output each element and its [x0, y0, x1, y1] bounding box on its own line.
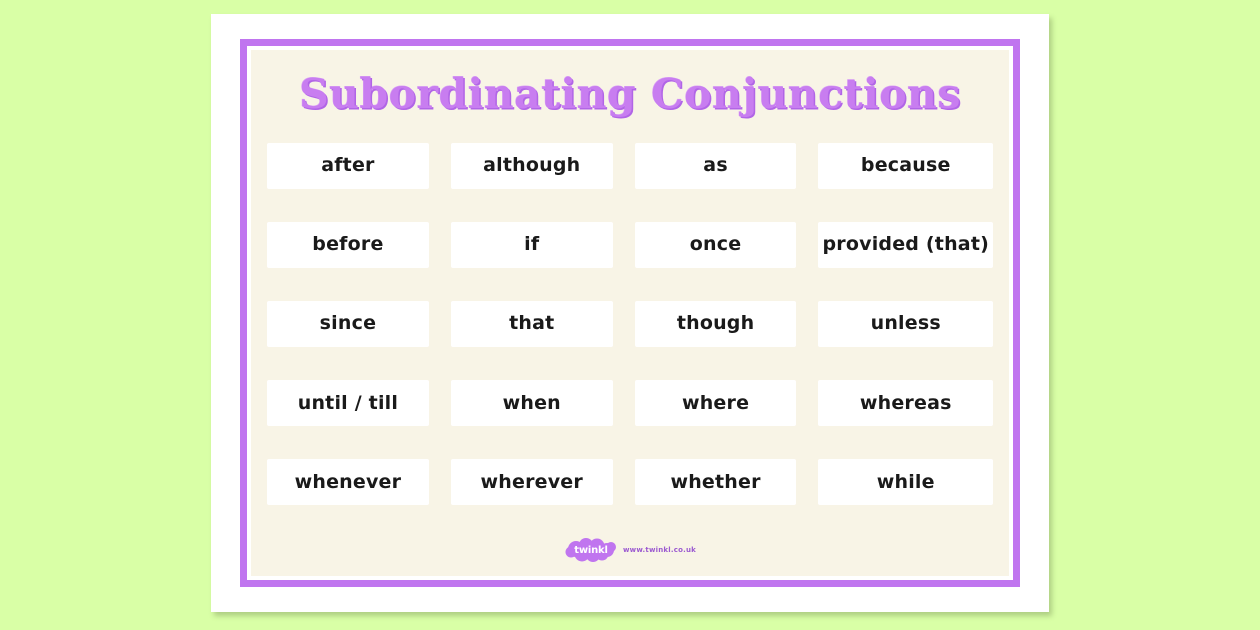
conjunction-card[interactable]: before	[267, 222, 429, 268]
poster-frame-inner: Subordinating Conjunctions afteralthough…	[247, 46, 1013, 580]
twinkl-cloud-icon: twinkl	[564, 538, 618, 562]
conjunction-label: until / till	[298, 394, 398, 413]
conjunction-label: unless	[871, 314, 941, 333]
conjunction-card[interactable]: unless	[818, 301, 993, 347]
conjunction-card[interactable]: whether	[635, 459, 797, 505]
conjunction-card-grid: afteralthoughasbecausebeforeifonceprovid…	[267, 126, 993, 522]
conjunction-card[interactable]: provided (that)	[818, 222, 993, 268]
conjunction-label: since	[320, 314, 377, 333]
conjunction-label: because	[861, 156, 951, 175]
conjunction-label: while	[877, 473, 935, 492]
conjunction-label: as	[703, 156, 728, 175]
conjunction-card[interactable]: since	[267, 301, 429, 347]
conjunction-card[interactable]: whenever	[267, 459, 429, 505]
conjunction-label: wherever	[481, 473, 583, 492]
conjunction-card[interactable]: after	[267, 143, 429, 189]
conjunction-card[interactable]: once	[635, 222, 797, 268]
conjunction-card[interactable]: because	[818, 143, 993, 189]
poster-frame-outer: Subordinating Conjunctions afteralthough…	[240, 39, 1020, 587]
conjunction-card[interactable]: until / till	[267, 380, 429, 426]
conjunction-label: though	[677, 314, 755, 333]
conjunction-label: whereas	[860, 394, 952, 413]
conjunction-card[interactable]: whereas	[818, 380, 993, 426]
conjunction-label: provided (that)	[822, 235, 989, 254]
conjunction-label: that	[509, 314, 554, 333]
page-title: Subordinating Conjunctions	[251, 70, 1009, 118]
conjunction-label: if	[524, 235, 539, 254]
conjunction-card[interactable]: while	[818, 459, 993, 505]
footer-branding: twinkl www.twinkl.co.uk	[251, 538, 1009, 562]
conjunction-label: once	[690, 235, 742, 254]
conjunction-card[interactable]: as	[635, 143, 797, 189]
conjunction-label: when	[503, 394, 561, 413]
conjunction-card[interactable]: where	[635, 380, 797, 426]
conjunction-card[interactable]: wherever	[451, 459, 613, 505]
conjunction-card[interactable]: when	[451, 380, 613, 426]
conjunction-label: whenever	[295, 473, 402, 492]
conjunction-label: before	[312, 235, 383, 254]
poster-sheet: Subordinating Conjunctions afteralthough…	[211, 14, 1049, 612]
conjunction-label: where	[682, 394, 749, 413]
conjunction-card[interactable]: although	[451, 143, 613, 189]
conjunction-label: whether	[670, 473, 760, 492]
conjunction-label: although	[483, 156, 580, 175]
conjunction-card[interactable]: that	[451, 301, 613, 347]
conjunction-card[interactable]: if	[451, 222, 613, 268]
twinkl-url: www.twinkl.co.uk	[623, 546, 696, 554]
twinkl-wordmark: twinkl	[574, 545, 607, 556]
poster-content: Subordinating Conjunctions afteralthough…	[251, 50, 1009, 576]
conjunction-label: after	[321, 156, 374, 175]
conjunction-card[interactable]: though	[635, 301, 797, 347]
poster-stage: Subordinating Conjunctions afteralthough…	[0, 0, 1260, 630]
